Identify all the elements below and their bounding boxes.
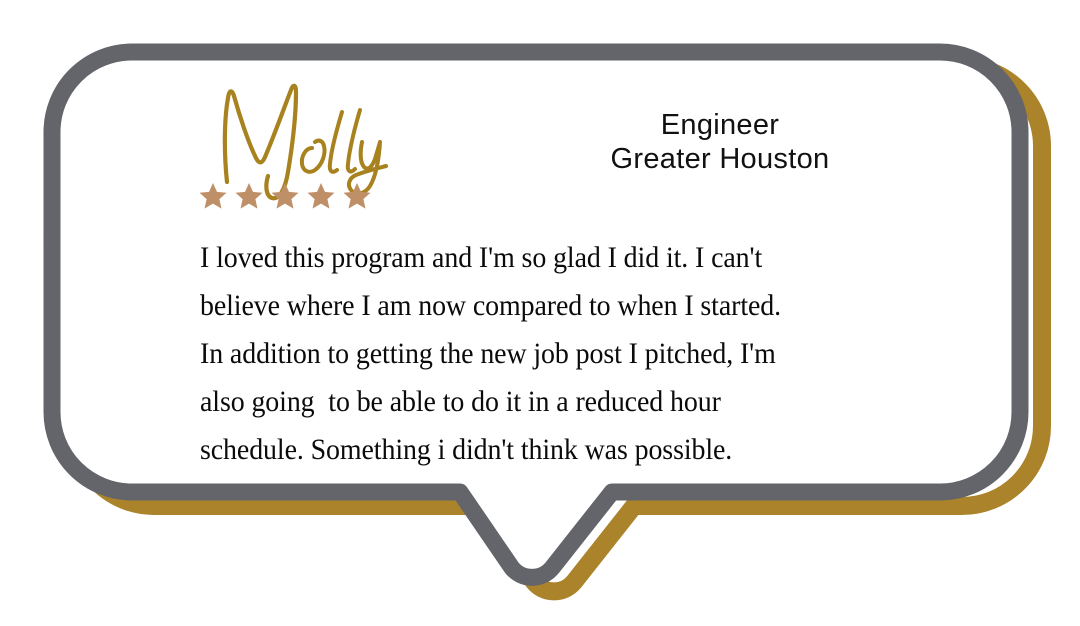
author-location: Greater Houston	[500, 142, 940, 176]
rating-stars	[198, 180, 388, 212]
star-icon	[342, 181, 372, 211]
quote-line: also going to be able to do it in a redu…	[200, 378, 851, 426]
testimonial-graphic: Engineer Greater Houston I loved this pr…	[0, 0, 1080, 626]
star-icon	[198, 181, 228, 211]
testimonial-quote: I loved this program and I'm so glad I d…	[200, 234, 900, 474]
star-icon	[306, 181, 336, 211]
quote-line: In addition to getting the new job post …	[200, 330, 851, 378]
quote-line: I loved this program and I'm so glad I d…	[200, 234, 851, 282]
author-role: Engineer	[500, 108, 940, 142]
author-meta: Engineer Greater Houston	[500, 108, 940, 176]
quote-line: schedule. Something i didn't think was p…	[200, 426, 851, 474]
signature	[196, 76, 396, 188]
star-icon	[270, 181, 300, 211]
signature-molly-icon	[196, 76, 386, 188]
quote-line: believe where I am now compared to when …	[200, 282, 851, 330]
star-icon	[234, 181, 264, 211]
